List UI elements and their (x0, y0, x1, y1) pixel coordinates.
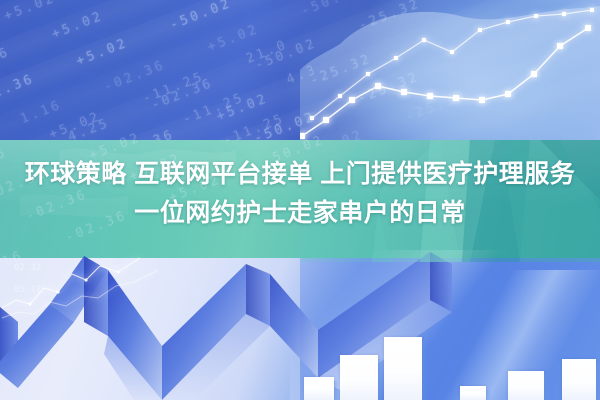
bar-column (384, 337, 422, 400)
glow-data-node (534, 14, 538, 18)
glow-data-node (401, 89, 407, 95)
headline-block: 环球策略 互联网平台接单 上门提供医疗护理服务 一位网约护士走家串户的日常 (0, 155, 600, 233)
ticker-value: +5.02 (74, 36, 130, 69)
glow-data-node (349, 97, 355, 103)
glow-data-node (366, 72, 370, 76)
bar-chart-columns (300, 258, 600, 400)
glow-data-node (505, 91, 511, 97)
glow-data-node (506, 20, 510, 24)
bar-column (304, 377, 334, 400)
bar-column (460, 386, 486, 400)
glow-line-chart (300, 0, 600, 150)
glow-data-node (562, 12, 566, 16)
glow-data-node (422, 38, 426, 42)
glow-data-node (450, 50, 454, 54)
bar-column (508, 371, 544, 400)
bar-column (340, 355, 378, 400)
glow-data-node (427, 93, 433, 99)
headline-line-1: 环球策略 互联网平台接单 上门提供医疗护理服务 (0, 155, 600, 193)
glow-data-node (338, 94, 342, 98)
glow-data-node (453, 95, 459, 101)
glow-data-node (478, 28, 482, 32)
headline-line-2: 一位网约护士走家串户的日常 (0, 193, 600, 233)
spark-label-2: 05.12 (14, 285, 41, 295)
news-banner: -02.36+5.02-11.2521.045.02-02.36+5.02-11… (0, 0, 600, 400)
ticker-value: +5.02 (50, 9, 106, 42)
spark-label-1: 02.32 (14, 263, 41, 273)
glow-data-node (479, 97, 485, 103)
glow-data-node (375, 83, 381, 89)
glow-data-node (585, 25, 591, 31)
ticker-value: +5.02 (2, 0, 58, 24)
bar-column (562, 359, 596, 400)
glow-data-node (531, 71, 537, 77)
glow-data-node (590, 8, 594, 12)
sparkline-chart: 02.32 05.12 (0, 252, 160, 322)
glow-data-node (394, 56, 398, 60)
glow-data-node (557, 43, 563, 49)
